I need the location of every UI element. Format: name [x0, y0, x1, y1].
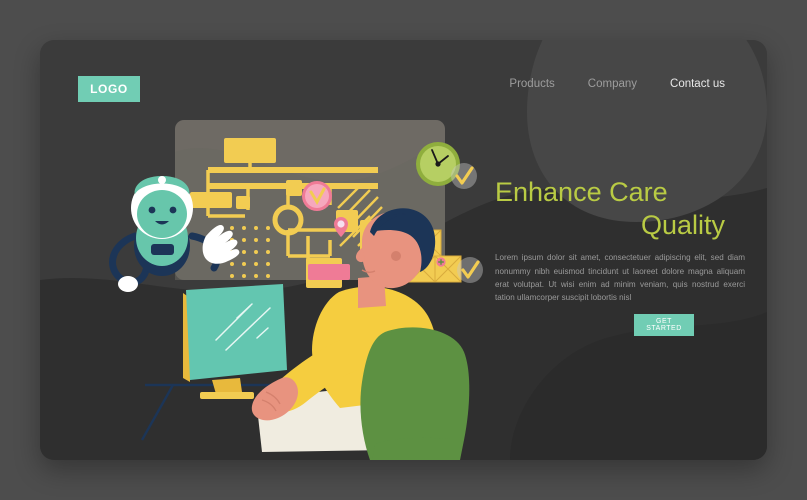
nav-item-products[interactable]: Products [509, 78, 554, 90]
nav-item-contact-us[interactable]: Contact us [670, 78, 725, 90]
check-badge-clock [451, 163, 477, 189]
headline-line-1: Enhance Care [495, 176, 725, 209]
page-title: Enhance Care Quality [495, 176, 725, 242]
hero-card: LOGO Products Company Contact us Enhance… [40, 40, 767, 460]
desktop-monitor [183, 284, 287, 399]
get-started-button[interactable]: GET STARTED [634, 314, 694, 336]
nav-item-company[interactable]: Company [588, 78, 637, 90]
pink-check-badge [302, 181, 332, 211]
page-root: LOGO Products Company Contact us Enhance… [0, 0, 807, 500]
office-chair [360, 327, 469, 460]
hero-illustration [40, 40, 767, 460]
logo-badge[interactable]: LOGO [78, 76, 140, 102]
hero-paragraph: Lorem ipsum dolor sit amet, consectetuer… [495, 251, 745, 305]
check-badge-crates [457, 257, 483, 283]
main-navigation: Products Company Contact us [509, 78, 725, 90]
headline-line-2: Quality [495, 209, 725, 242]
